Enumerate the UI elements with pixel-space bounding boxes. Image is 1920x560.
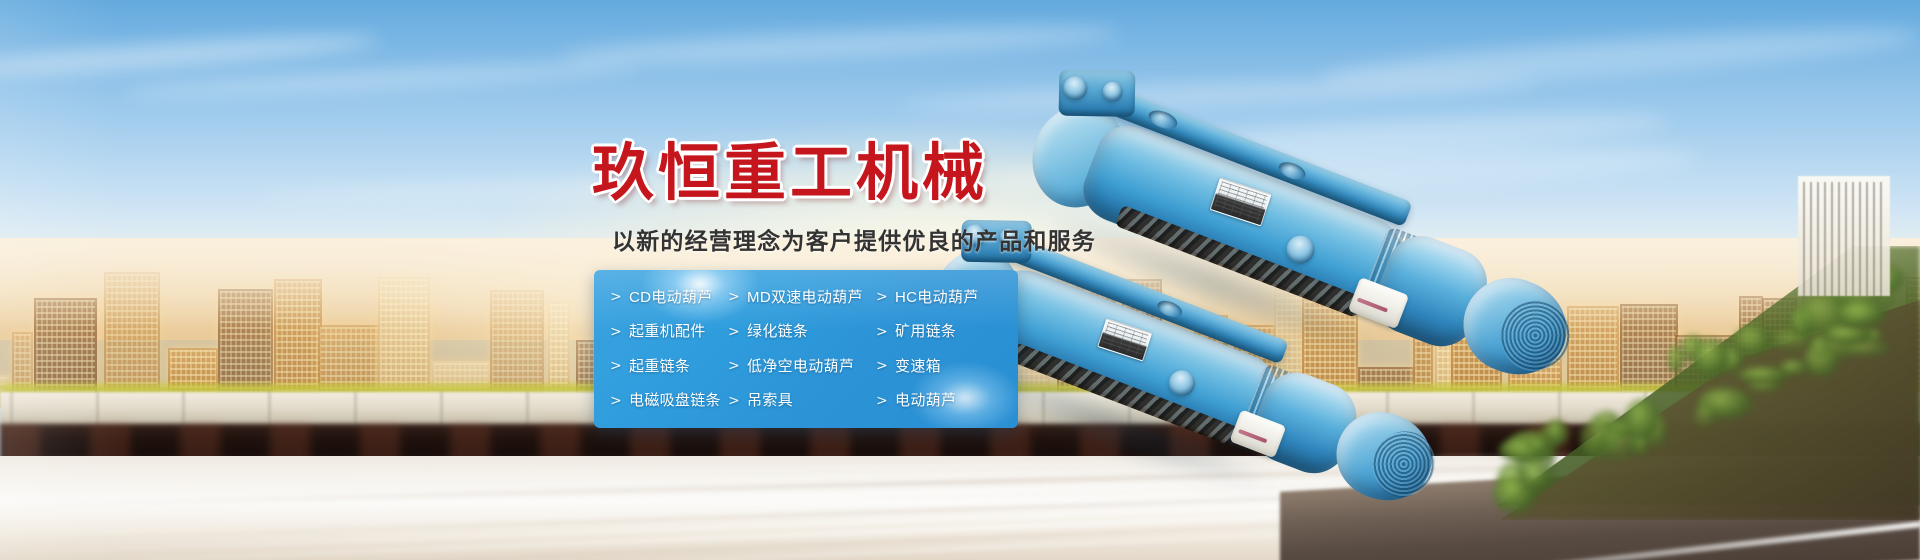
product-category-item[interactable]: >MD双速电动葫芦: [720, 280, 868, 315]
chevron-right-icon: >: [876, 324, 888, 340]
product-category-label: 矿用链条: [895, 324, 956, 339]
hillside-tree: [1625, 399, 1659, 440]
promo-banner: 玖恒重工机械 以新的经营理念为客户提供优良的产品和服务 >CD电动葫芦>MD双速…: [0, 0, 1920, 560]
chevron-right-icon: >: [610, 324, 622, 340]
cloud-streak: [120, 58, 640, 101]
barrier-post: [1128, 392, 1131, 428]
chevron-right-icon: >: [728, 358, 740, 374]
product-category-item[interactable]: >吊索具: [720, 384, 868, 419]
barrier-post: [10, 392, 13, 428]
road-lane-marking: [1320, 521, 1920, 560]
chevron-right-icon: >: [728, 393, 740, 409]
chevron-right-icon: >: [876, 289, 888, 305]
product-category-label: 低净空电动葫芦: [747, 359, 854, 374]
hillside-tree: [1780, 360, 1808, 375]
product-category-label: 吊索具: [747, 393, 793, 408]
product-category-item[interactable]: >绿化链条: [720, 315, 868, 350]
product-category-item[interactable]: >CD电动葫芦: [602, 280, 720, 315]
barrier-post: [182, 392, 185, 428]
product-category-item[interactable]: >电动葫芦: [868, 384, 1018, 419]
hillside-tree: [1734, 325, 1772, 356]
chevron-right-icon: >: [876, 393, 888, 409]
barrier-post: [354, 392, 357, 428]
hillside-tree: [1520, 461, 1550, 491]
barrier-post: [1042, 392, 1045, 428]
product-category-label: 电动葫芦: [895, 393, 956, 408]
product-category-item[interactable]: >起重机配件: [602, 315, 720, 350]
chevron-right-icon: >: [610, 289, 622, 305]
barrier-post: [1300, 392, 1303, 428]
cloud-streak: [1320, 19, 1920, 95]
product-category-list: >CD电动葫芦>MD双速电动葫芦>HC电动葫芦>起重机配件>绿化链条>矿用链条>…: [594, 270, 1018, 428]
product-category-item[interactable]: >电磁吸盘链条: [602, 384, 720, 419]
product-category-label: HC电动葫芦: [895, 290, 978, 305]
hillside-tree: [1548, 419, 1565, 445]
hillside-tree: [1837, 300, 1886, 328]
product-category-label: 起重链条: [629, 359, 690, 374]
cloud-streak: [0, 29, 380, 80]
chevron-right-icon: >: [728, 324, 740, 340]
barrier-post: [1214, 392, 1217, 428]
page-subtitle: 以新的经营理念为客户提供优良的产品和服务: [612, 222, 1096, 256]
product-category-item[interactable]: >HC电动葫芦: [868, 280, 1018, 315]
product-category-label: CD电动葫芦: [629, 290, 712, 305]
product-category-label: 绿化链条: [747, 324, 808, 339]
chevron-right-icon: >: [728, 289, 740, 305]
barrier-post: [268, 392, 271, 428]
cloud-streak: [560, 20, 1121, 70]
barrier-post: [1386, 392, 1389, 428]
barrier-post: [96, 392, 99, 428]
product-category-label: 起重机配件: [629, 324, 706, 339]
hillside-tree: [1823, 325, 1873, 344]
barrier-post: [440, 392, 443, 428]
product-category-label: 变速箱: [895, 359, 941, 374]
product-category-item[interactable]: >矿用链条: [868, 315, 1018, 350]
product-category-label: MD双速电动葫芦: [747, 290, 863, 305]
chevron-right-icon: >: [610, 358, 622, 374]
barrier-post: [1472, 392, 1475, 428]
hillside-tree: [1527, 438, 1550, 452]
hillside-tree: [1693, 338, 1729, 377]
barrier-post: [526, 392, 529, 428]
page-title: 玖恒重工机械: [592, 122, 988, 212]
product-category-item[interactable]: >起重链条: [602, 349, 720, 384]
background-tower: [1798, 176, 1890, 296]
product-category-item[interactable]: >变速箱: [868, 349, 1018, 384]
product-category-item[interactable]: >低净空电动葫芦: [720, 349, 868, 384]
product-category-panel: >CD电动葫芦>MD双速电动葫芦>HC电动葫芦>起重机配件>绿化链条>矿用链条>…: [594, 270, 1018, 428]
chevron-right-icon: >: [610, 393, 622, 409]
product-category-label: 电磁吸盘链条: [629, 393, 721, 408]
chevron-right-icon: >: [876, 358, 888, 374]
